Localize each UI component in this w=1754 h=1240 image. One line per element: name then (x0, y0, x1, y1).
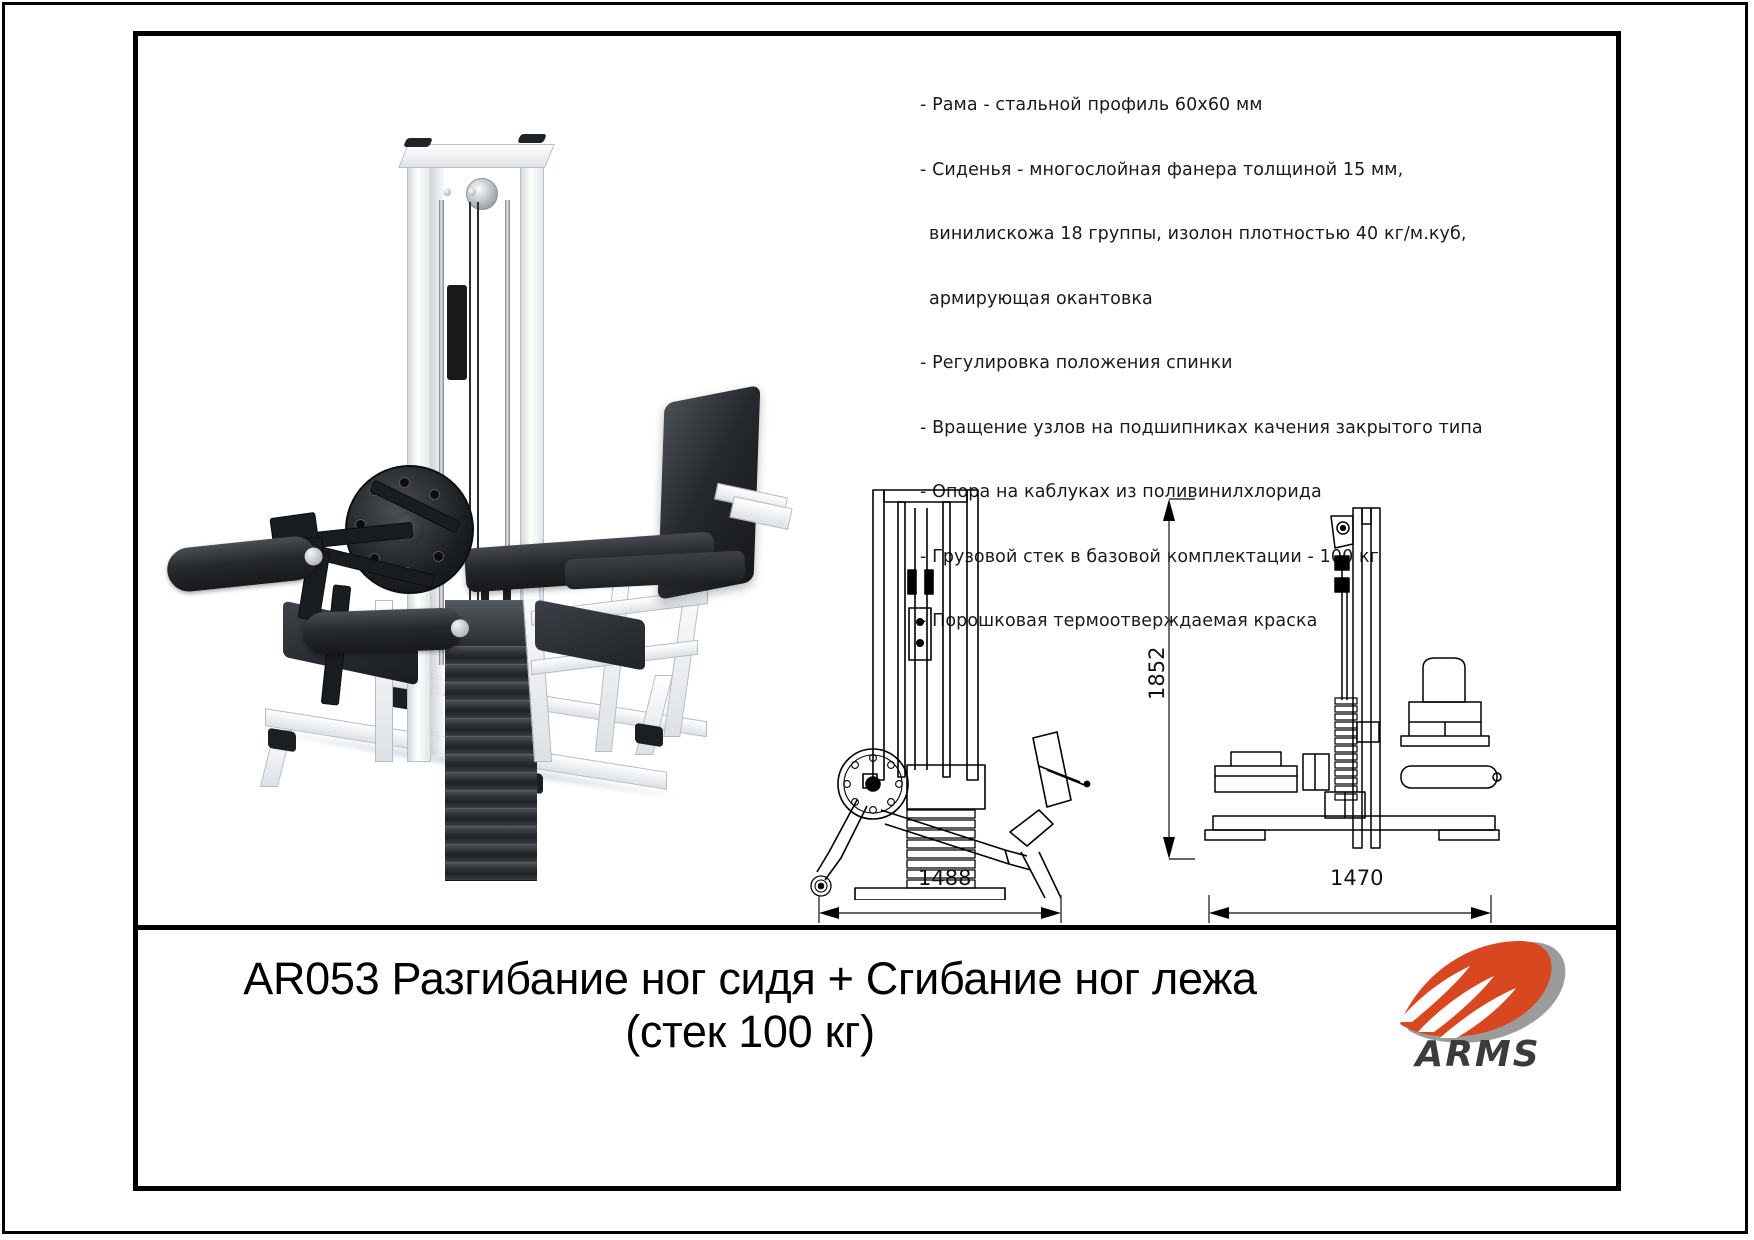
ankle-roller-pad-lower (302, 607, 463, 655)
guide-rod-left (439, 200, 444, 665)
foot-pvc-front-left (268, 728, 296, 752)
weight-plate (445, 682, 537, 701)
foot-pvc-rear-right (635, 723, 663, 747)
weight-plate (445, 718, 537, 737)
spec-line-seat-cont1: винилискожа 18 группы, изолон плотностью… (920, 224, 1520, 246)
weight-plate (445, 862, 537, 881)
spec-line-bearings: - Вращение узлов на подшипниках качения … (920, 418, 1520, 440)
weight-plate (445, 772, 537, 791)
product-title-line-1: AR053 Разгибание ног сидя + Сгибание ног… (150, 952, 1350, 1005)
arms-logo-text: ARMS (1378, 1034, 1578, 1075)
weight-plate (445, 754, 537, 773)
spec-line-seat-cont2: армирующая окантовка (920, 289, 1520, 311)
arms-logo-mark-icon (1378, 938, 1578, 1046)
cam-hole (429, 489, 440, 500)
weight-stack (445, 600, 537, 885)
cam-hole (433, 551, 444, 562)
front-view-drawing (1195, 490, 1525, 890)
weight-plate (445, 808, 537, 827)
weight-plate (445, 700, 537, 719)
weight-plate (445, 736, 537, 755)
arms-logo: ARMS (1378, 938, 1578, 1088)
weight-selector-plate (447, 285, 467, 380)
tower-top-crossbar (398, 144, 555, 168)
spec-line-frame: - Рама - стальной профиль 60х60 мм (920, 95, 1520, 117)
weight-plate (445, 844, 537, 863)
cam-hole (399, 477, 410, 488)
spec-line-backrest: - Регулировка положения спинки (920, 353, 1520, 375)
product-title-line-2: (стек 100 кг) (150, 1005, 1350, 1058)
dimension-1470-label: 1470 (1330, 866, 1383, 890)
spec-line-seat: - Сиденья - многослойная фанера толщиной… (920, 160, 1520, 182)
front-view-width-dimension (1205, 895, 1495, 935)
weight-plate (445, 790, 537, 809)
side-view-width-dimension (815, 895, 1065, 935)
side-view-drawing (795, 480, 1095, 900)
weight-plate (445, 664, 537, 683)
weight-plate (445, 826, 537, 845)
pulley-bolt-left (443, 188, 451, 196)
weight-plate (445, 646, 537, 665)
tower-cap-right (517, 134, 547, 143)
tower-cap-left (403, 138, 433, 147)
dimension-1852-label: 1852 (1145, 647, 1169, 700)
machine-3d-render (175, 130, 815, 830)
pulley-bolt-right (468, 188, 476, 196)
ankle-roller-pad-upper (165, 534, 319, 593)
drawing-page: - Рама - стальной профиль 60х60 мм - Сид… (0, 0, 1754, 1240)
dimension-1488-label: 1488 (918, 866, 971, 890)
product-title: AR053 Разгибание ног сидя + Сгибание ног… (150, 952, 1350, 1058)
